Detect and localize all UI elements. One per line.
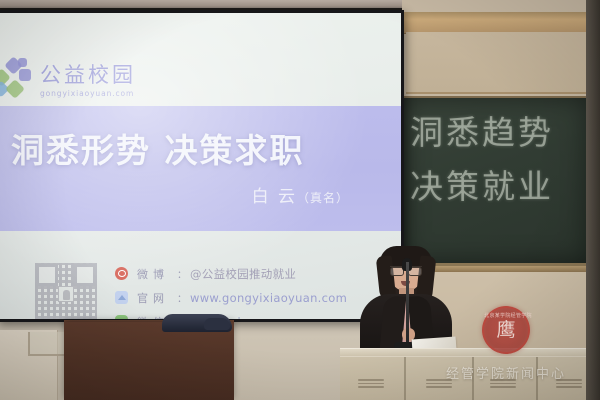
slide-speaker-line: 白 云（真名）: [252, 182, 349, 207]
wechat-icon: [115, 315, 128, 319]
school-seal-logo: 北京某学院经管学院 鹰: [482, 306, 530, 354]
public-welfare-campus-icon: [0, 55, 37, 99]
logo-name: 公益校园: [40, 65, 136, 86]
draped-jacket: [162, 314, 232, 332]
wood-valance: [404, 12, 600, 34]
projected-slide: 公益校园 gongyixiaoyuan.com 洞悉形势 决策求职 白 云（真名…: [0, 13, 401, 319]
slide-logo: 公益校园 gongyixiaoyuan.com: [0, 55, 136, 99]
microphone-stand: [406, 262, 409, 348]
watermark-text: 经管学院新闻中心: [446, 363, 566, 382]
contact-row-weibo: 微博 ： @公益校园推动就业: [115, 263, 347, 284]
contact-value-weibo: @公益校园推动就业: [190, 266, 296, 282]
upper-wall-panel: [406, 32, 594, 94]
projection-screen-frame: 公益校园 gongyixiaoyuan.com 洞悉形势 决策求职 白 云（真名…: [0, 10, 404, 322]
contact-sep-weibo: ：: [177, 266, 187, 281]
qr-center-logo: [58, 286, 74, 302]
contact-label-weibo: 微博: [137, 266, 177, 282]
contact-row-website: 官网 ： www.gongyixiaoyuan.com: [115, 287, 347, 308]
locker-vent: [358, 379, 384, 389]
blackboard: 洞悉趋势 决策就业: [404, 96, 588, 266]
slide-title: 洞悉形势 决策求职: [11, 124, 305, 172]
seal-arc-text: 北京某学院经管学院: [484, 312, 532, 319]
qr-code-icon: [35, 263, 97, 319]
contact-row-wechat: 微信 ： dabingshuo: [115, 311, 347, 319]
seal-center-char: 鹰: [493, 317, 519, 343]
lectern: [64, 322, 234, 400]
slide-title-band: 洞悉形势 决策求职 白 云（真名）: [0, 106, 401, 231]
right-edge-shadow: [586, 0, 600, 400]
contact-label-website: 官网: [137, 290, 177, 306]
lecture-hall-photo: 洞悉趋势 决策就业 公益校园 gongyixiaoyuan.com 洞悉形势 决…: [0, 0, 600, 400]
logo-text-block: 公益校园 gongyixiaoyuan.com: [40, 65, 136, 99]
logo-url: gongyixiaoyuan.com: [40, 89, 136, 98]
weibo-icon: [115, 267, 128, 280]
contact-sep-website: ：: [177, 290, 187, 305]
speaker-note: （真名）: [297, 191, 349, 205]
contact-value-website: www.gongyixiaoyuan.com: [190, 291, 347, 305]
blackboard-line-2: 决策就业: [410, 160, 588, 208]
slide-contacts: 微博 ： @公益校园推动就业 官网 ： www.gongyixiaoyuan.c…: [115, 263, 347, 319]
blackboard-line-1: 洞悉趋势: [410, 106, 588, 154]
website-icon: [115, 291, 128, 304]
speaker-name: 白 云: [252, 187, 297, 207]
